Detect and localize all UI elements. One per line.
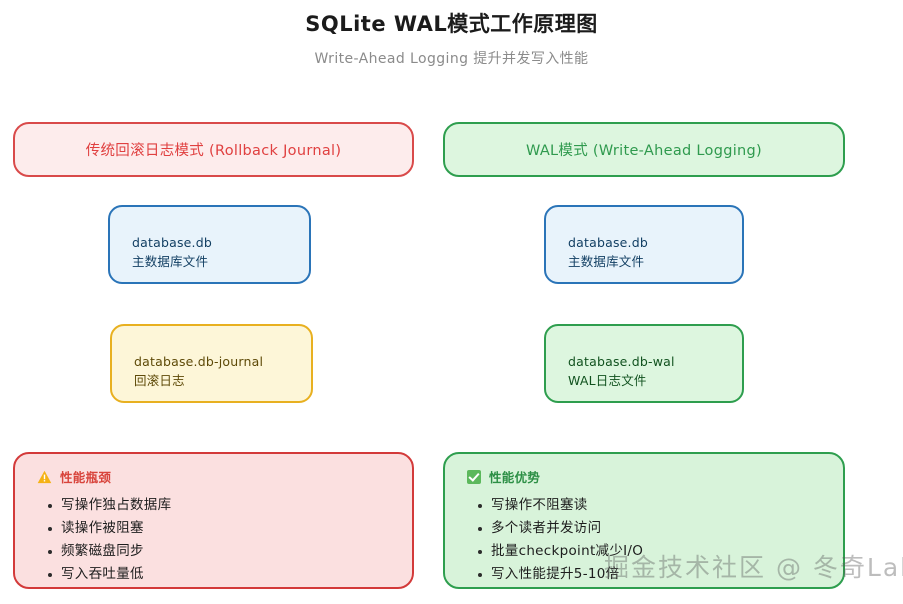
node-filename: database.db <box>132 233 309 252</box>
node-database-db-left: database.db 主数据库文件 <box>108 205 311 284</box>
bottleneck-list: 写操作独占数据库 读操作被阻塞 频繁磁盘同步 写入吞吐量低 <box>43 494 171 586</box>
list-item: 写入性能提升5-10倍 <box>491 563 643 586</box>
list-item: 频繁磁盘同步 <box>61 540 171 563</box>
panel-bottleneck-title-label: 性能瓶颈 <box>60 467 111 486</box>
panel-bottleneck-title: 性能瓶颈 <box>37 467 111 486</box>
section-header-rollback-journal-label: 传统回滚日志模式 (Rollback Journal) <box>86 139 342 160</box>
node-filename: database.db <box>568 233 742 252</box>
node-description: 主数据库文件 <box>132 252 309 271</box>
node-description: WAL日志文件 <box>568 371 742 390</box>
page-subtitle: Write-Ahead Logging 提升并发写入性能 <box>0 48 903 68</box>
check-box-icon <box>467 470 481 484</box>
node-description: 回滚日志 <box>134 371 311 390</box>
list-item: 写入吞吐量低 <box>61 563 171 586</box>
section-header-rollback-journal: 传统回滚日志模式 (Rollback Journal) <box>13 122 414 177</box>
diagram-canvas: SQLite WAL模式工作原理图 Write-Ahead Logging 提升… <box>0 0 903 604</box>
list-item: 写操作独占数据库 <box>61 494 171 517</box>
page-title: SQLite WAL模式工作原理图 <box>0 8 903 38</box>
panel-performance-advantage: 性能优势 写操作不阻塞读 多个读者并发访问 批量checkpoint减少I/O … <box>443 452 845 589</box>
node-filename: database.db-journal <box>134 352 311 371</box>
node-description: 主数据库文件 <box>568 252 742 271</box>
list-item: 多个读者并发访问 <box>491 517 643 540</box>
node-database-db-journal: database.db-journal 回滚日志 <box>110 324 313 403</box>
node-filename: database.db-wal <box>568 352 742 371</box>
panel-advantage-title-label: 性能优势 <box>489 467 540 486</box>
section-header-wal-label: WAL模式 (Write-Ahead Logging) <box>526 139 762 160</box>
panel-performance-bottleneck: 性能瓶颈 写操作独占数据库 读操作被阻塞 频繁磁盘同步 写入吞吐量低 <box>13 452 414 589</box>
list-item: 写操作不阻塞读 <box>491 494 643 517</box>
section-header-wal: WAL模式 (Write-Ahead Logging) <box>443 122 845 177</box>
list-item: 批量checkpoint减少I/O <box>491 540 643 563</box>
warning-triangle-icon <box>37 470 52 484</box>
panel-advantage-title: 性能优势 <box>467 467 540 486</box>
node-database-db-right: database.db 主数据库文件 <box>544 205 744 284</box>
list-item: 读操作被阻塞 <box>61 517 171 540</box>
node-database-db-wal: database.db-wal WAL日志文件 <box>544 324 744 403</box>
advantage-list: 写操作不阻塞读 多个读者并发访问 批量checkpoint减少I/O 写入性能提… <box>473 494 643 586</box>
